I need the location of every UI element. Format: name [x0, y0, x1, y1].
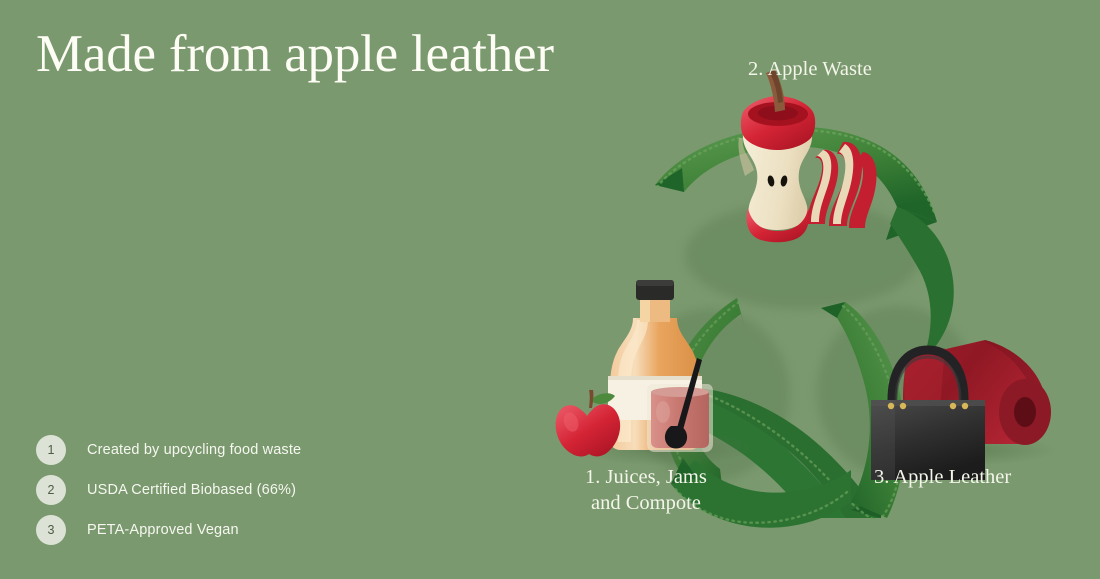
cycle-label-apple-waste: 2. Apple Waste: [748, 57, 872, 83]
feature-number-badge: 3: [36, 515, 66, 545]
feature-label: PETA-Approved Vegan: [87, 522, 239, 538]
feature-list-item: 3 PETA-Approved Vegan: [36, 510, 456, 550]
feature-list-item: 1 Created by upcycling food waste: [36, 430, 456, 470]
apple-core-peel-icon: [738, 70, 876, 242]
feature-number-badge: 2: [36, 475, 66, 505]
feature-label: Created by upcycling food waste: [87, 442, 301, 458]
feature-list: 1 Created by upcycling food waste 2 USDA…: [36, 430, 456, 550]
feature-label: USDA Certified Biobased (66%): [87, 482, 296, 498]
feature-list-item: 2 USDA Certified Biobased (66%): [36, 470, 456, 510]
page-title: Made from apple leather: [36, 25, 554, 83]
cycle-label-apple-leather: 3. Apple Leather: [874, 465, 1011, 491]
handbag-leather-roll-icon: [871, 340, 1057, 480]
feature-number-badge: 1: [36, 435, 66, 465]
cycle-label-juices-jams-compote: 1. Juices, Jams and Compote: [585, 465, 707, 516]
apple-leather-infographic-page: { "page": { "background_color": "#7a996e…: [0, 0, 1100, 579]
